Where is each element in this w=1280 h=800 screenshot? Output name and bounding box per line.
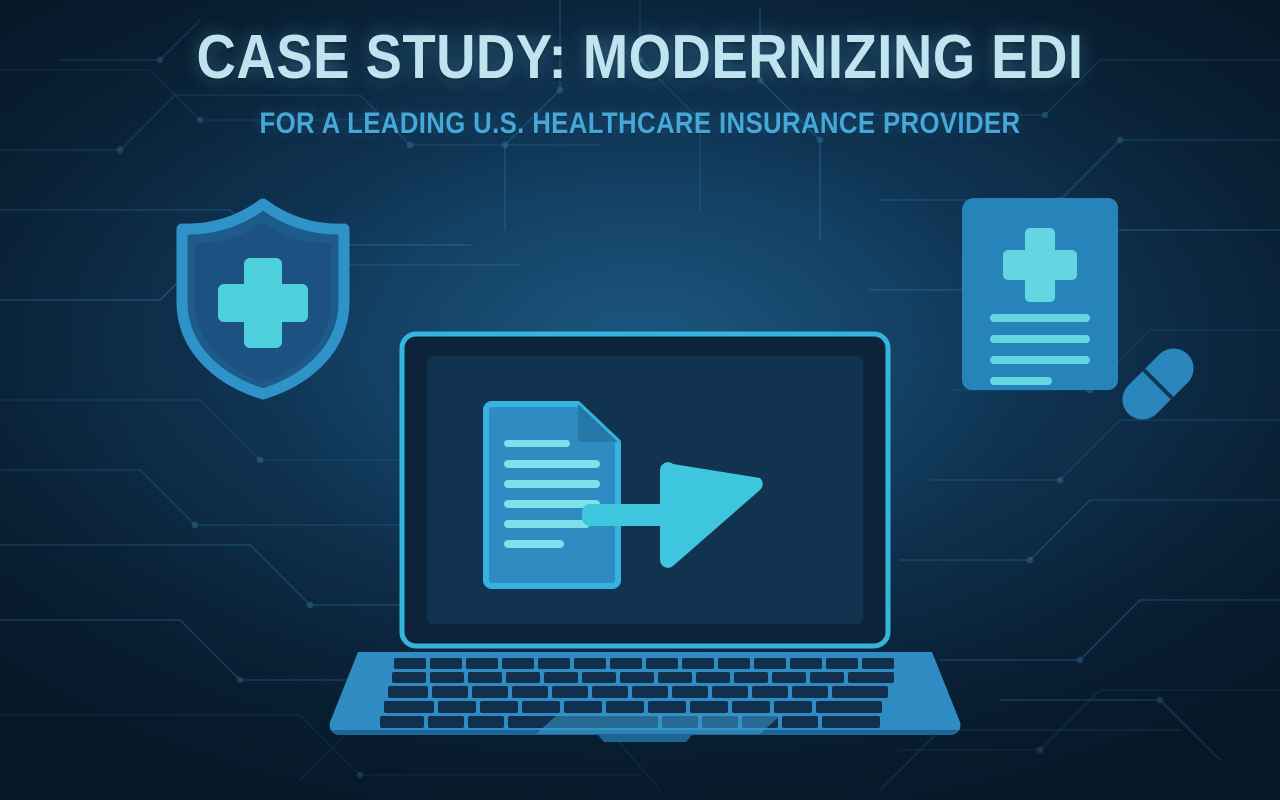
laptop-device-graphic	[330, 330, 960, 750]
medical-record-graphic	[960, 196, 1120, 392]
screen-document-icon	[486, 404, 618, 586]
laptop-front-notch	[598, 735, 692, 742]
page-subtitle: FOR A LEADING U.S. HEALTHCARE INSURANCE …	[90, 107, 1191, 141]
poster-canvas: CASE STUDY: MODERNIZING EDI FOR A LEADIN…	[0, 0, 1280, 800]
heading-block: CASE STUDY: MODERNIZING EDI FOR A LEADIN…	[0, 26, 1280, 141]
capsule-pill-graphic	[1112, 336, 1204, 432]
page-title: CASE STUDY: MODERNIZING EDI	[77, 26, 1203, 89]
laptop-trackpad	[536, 714, 782, 734]
